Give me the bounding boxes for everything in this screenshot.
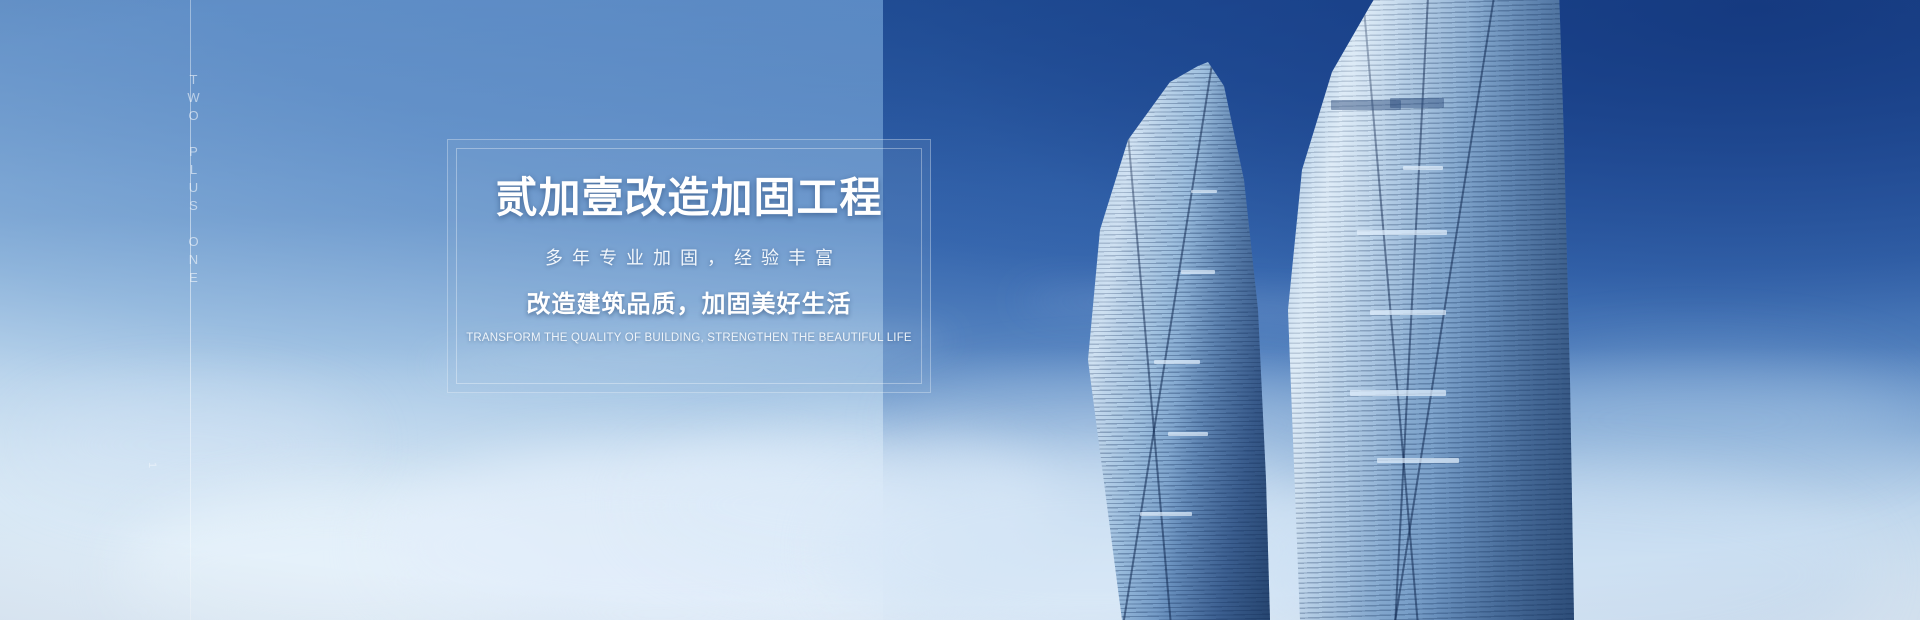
skyscraper-photo [1040, 0, 1920, 620]
tower-window-light [1390, 98, 1444, 108]
slide-index-mark: 1 [146, 462, 158, 469]
tower-window-light [1370, 310, 1446, 315]
tower-window-light [1168, 432, 1208, 436]
tower-window-light [1377, 458, 1459, 463]
page-title: 贰加壹改造加固工程 [495, 177, 882, 219]
glass-tower-rear [1258, 0, 1588, 620]
vertical-brand-text: TWO PLUS ONE [174, 72, 208, 288]
subtitle-text: 多年专业加固，经验丰富 [536, 249, 842, 267]
tower-window-light [1140, 512, 1192, 516]
english-caption: TRANSFORM THE QUALITY OF BUILDING, STREN… [466, 333, 912, 345]
hero-banner: TWO PLUS ONE 1 贰加壹改造加固工程 多年专业加固，经验丰富 改造建… [0, 0, 1920, 620]
tower-window-light [1357, 230, 1447, 235]
tower-window-light [1181, 270, 1215, 274]
tower-window-light [1350, 390, 1446, 396]
hero-text-panel-inner-border: 贰加壹改造加固工程 多年专业加固，经验丰富 改造建筑品质，加固美好生活 TRAN… [456, 148, 922, 384]
hero-text-panel: 贰加壹改造加固工程 多年专业加固，经验丰富 改造建筑品质，加固美好生活 TRAN… [447, 139, 931, 393]
tower-window-light [1191, 190, 1217, 193]
tower-window-light [1154, 360, 1200, 364]
slogan-text: 改造建筑品质，加固美好生活 [527, 293, 852, 317]
tower-window-light [1403, 166, 1443, 170]
glass-tower-front [1048, 60, 1278, 620]
tower-edge-shadow [1048, 60, 1278, 620]
